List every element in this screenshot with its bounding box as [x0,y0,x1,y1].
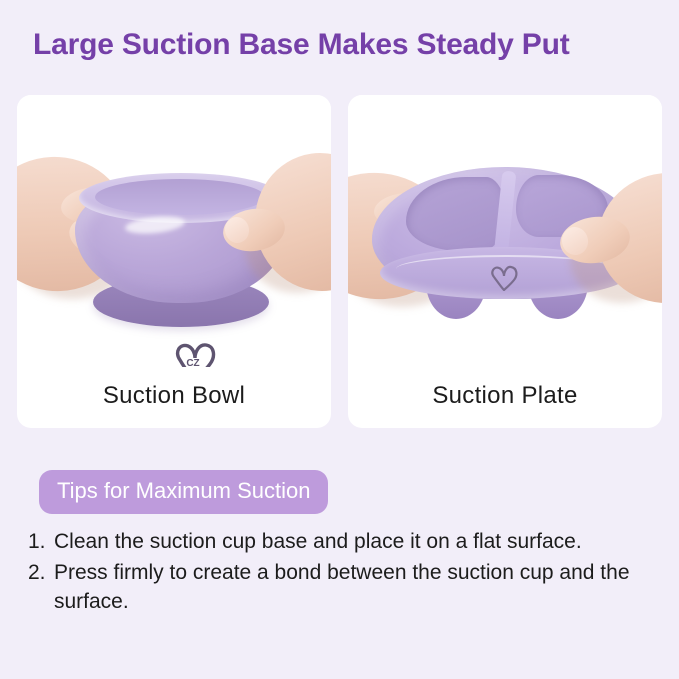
tip-item-1: 1. Clean the suction cup base and place … [28,528,653,557]
plate-illustration [348,95,662,367]
brand-heart-logo: CZ [172,340,218,367]
tip-item-2: 2. Press firmly to create a bond between… [28,559,653,617]
suction-plate-photo [348,95,662,367]
bowl-interior [95,179,265,215]
tip-text-2: Press firmly to create a bond between th… [54,559,653,617]
page-title: Large Suction Base Makes Steady Put [33,28,663,62]
bowl-illustration: CZ [17,95,331,367]
suction-bowl-photo: CZ [17,95,331,367]
logo-text: CZ [186,358,199,367]
product-card-suction-bowl: CZ Suction Bowl [17,95,331,428]
tip-text-1: Clean the suction cup base and place it … [54,528,653,557]
product-card-suction-plate: Suction Plate [348,95,662,428]
suction-plate-caption: Suction Plate [348,382,662,410]
suction-bowl-caption: Suction Bowl [17,382,331,410]
tip-number-1: 1. [28,528,54,557]
tips-badge: Tips for Maximum Suction [39,470,328,514]
tip-number-2: 2. [28,559,54,588]
plate-brand-heart-logo [488,263,520,291]
tips-list: 1. Clean the suction cup base and place … [28,528,653,619]
